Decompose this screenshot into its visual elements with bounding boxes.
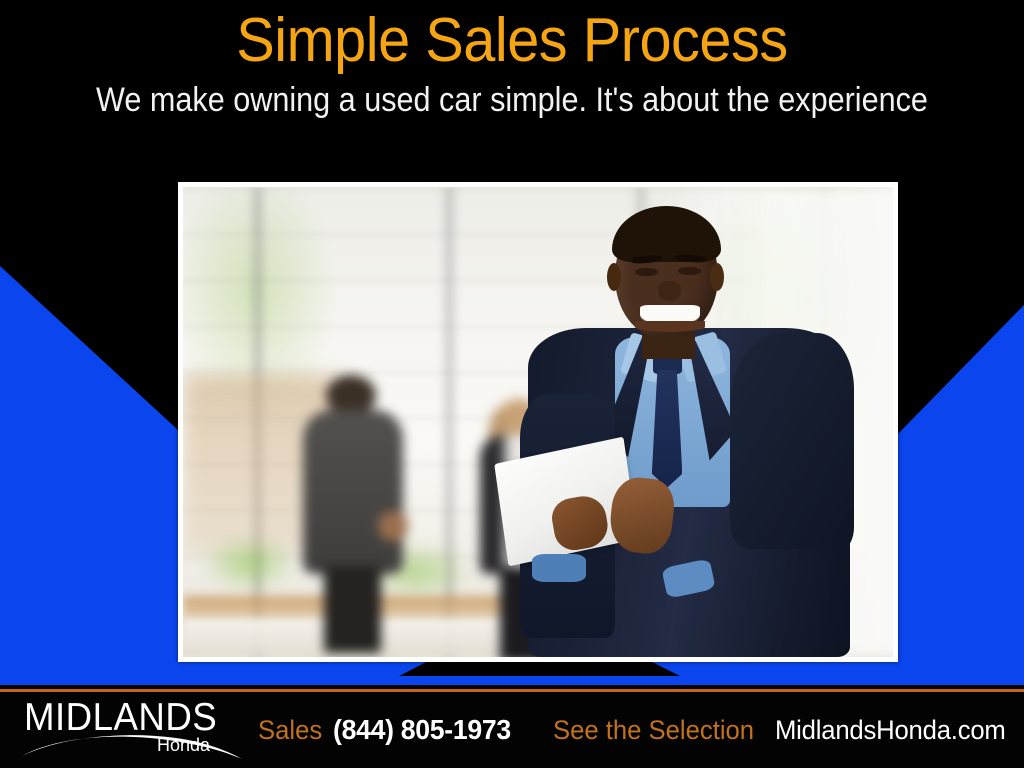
page-subtitle: We make owning a used car simple. It's a… <box>51 76 973 120</box>
footer-contact: Sales (844) 805-1973 See the Selection M… <box>258 692 1018 768</box>
hero-photo <box>183 187 893 657</box>
midlands-honda-logo[interactable]: MIDLANDS Honda <box>18 696 248 764</box>
sales-phone-number[interactable]: (844) 805-1973 <box>333 715 511 745</box>
necktie <box>652 370 682 488</box>
lower-lip <box>635 321 705 331</box>
shoulder-right <box>730 333 854 549</box>
logo-swoosh-icon <box>18 726 248 764</box>
footer-bar: MIDLANDS Honda Sales (844) 805-1973 See … <box>0 692 1024 768</box>
page-title: Simple Sales Process <box>36 0 988 76</box>
shirt-cuff-left <box>532 554 586 582</box>
ear-right <box>710 263 724 291</box>
hero-photo-frame <box>178 182 898 662</box>
see-the-selection-label: See the Selection <box>553 715 754 745</box>
website-url[interactable]: MidlandsHonda.com <box>775 715 1006 745</box>
header: Simple Sales Process We make owning a us… <box>0 0 1024 150</box>
background-person-man-gray-suit <box>297 375 411 648</box>
nose <box>658 281 681 301</box>
blue-band <box>0 676 1024 685</box>
foreground-salesman <box>495 187 893 657</box>
slide-root: Simple Sales Process We make owning a us… <box>0 0 1024 768</box>
sales-label: Sales <box>258 715 322 745</box>
